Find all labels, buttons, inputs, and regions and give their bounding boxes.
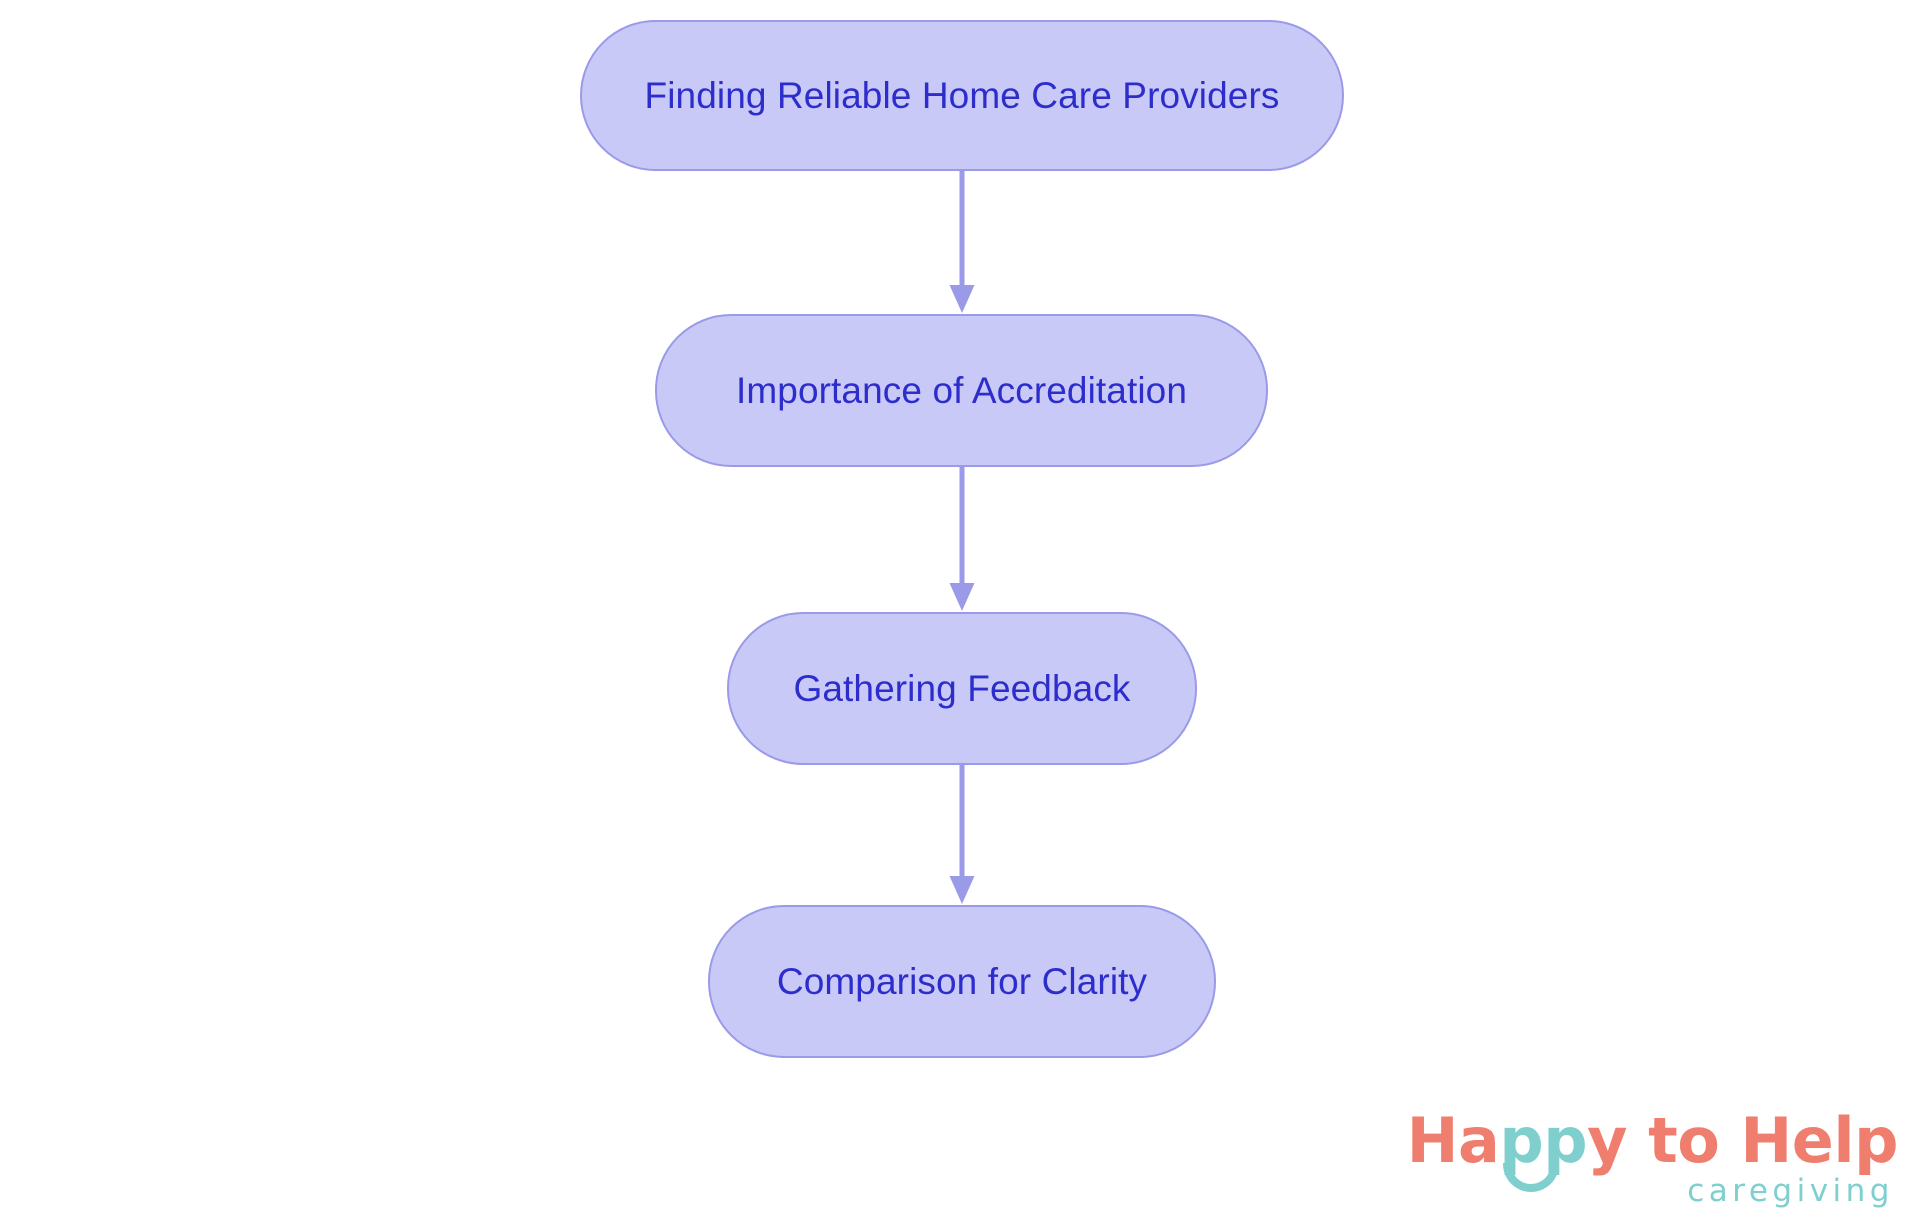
connector-node3-node4 <box>950 765 975 904</box>
flow-node-importance-of-accreditation[interactable]: Importance of Accreditation <box>655 314 1268 467</box>
flow-node-finding-reliable-home-care-providers[interactable]: Finding Reliable Home Care Providers <box>580 20 1344 171</box>
connector-node1-node2 <box>950 171 975 313</box>
flow-node-label: Comparison for Clarity <box>777 963 1147 1000</box>
flow-node-label: Importance of Accreditation <box>736 372 1187 409</box>
logo-word-y: y <box>1587 1104 1627 1177</box>
flow-node-label: Gathering Feedback <box>793 670 1130 707</box>
down-arrow-icon <box>950 583 975 611</box>
down-arrow-icon <box>950 285 975 313</box>
logo-tagline: caregiving <box>1407 1176 1894 1207</box>
logo-wordmark: Happy to Help <box>1407 1111 1898 1172</box>
flow-node-comparison-for-clarity[interactable]: Comparison for Clarity <box>708 905 1216 1058</box>
connector-node2-node3 <box>950 467 975 611</box>
logo-word-ha: Ha <box>1407 1104 1500 1177</box>
flow-node-label: Finding Reliable Home Care Providers <box>645 77 1280 114</box>
logo-word-to-help: to Help <box>1627 1104 1898 1177</box>
flowchart-canvas: Finding Reliable Home Care Providers Imp… <box>0 0 1920 1215</box>
down-arrow-icon <box>950 876 975 904</box>
flow-node-gathering-feedback[interactable]: Gathering Feedback <box>727 612 1197 765</box>
brand-logo: Happy to Help caregiving <box>1407 1111 1898 1207</box>
